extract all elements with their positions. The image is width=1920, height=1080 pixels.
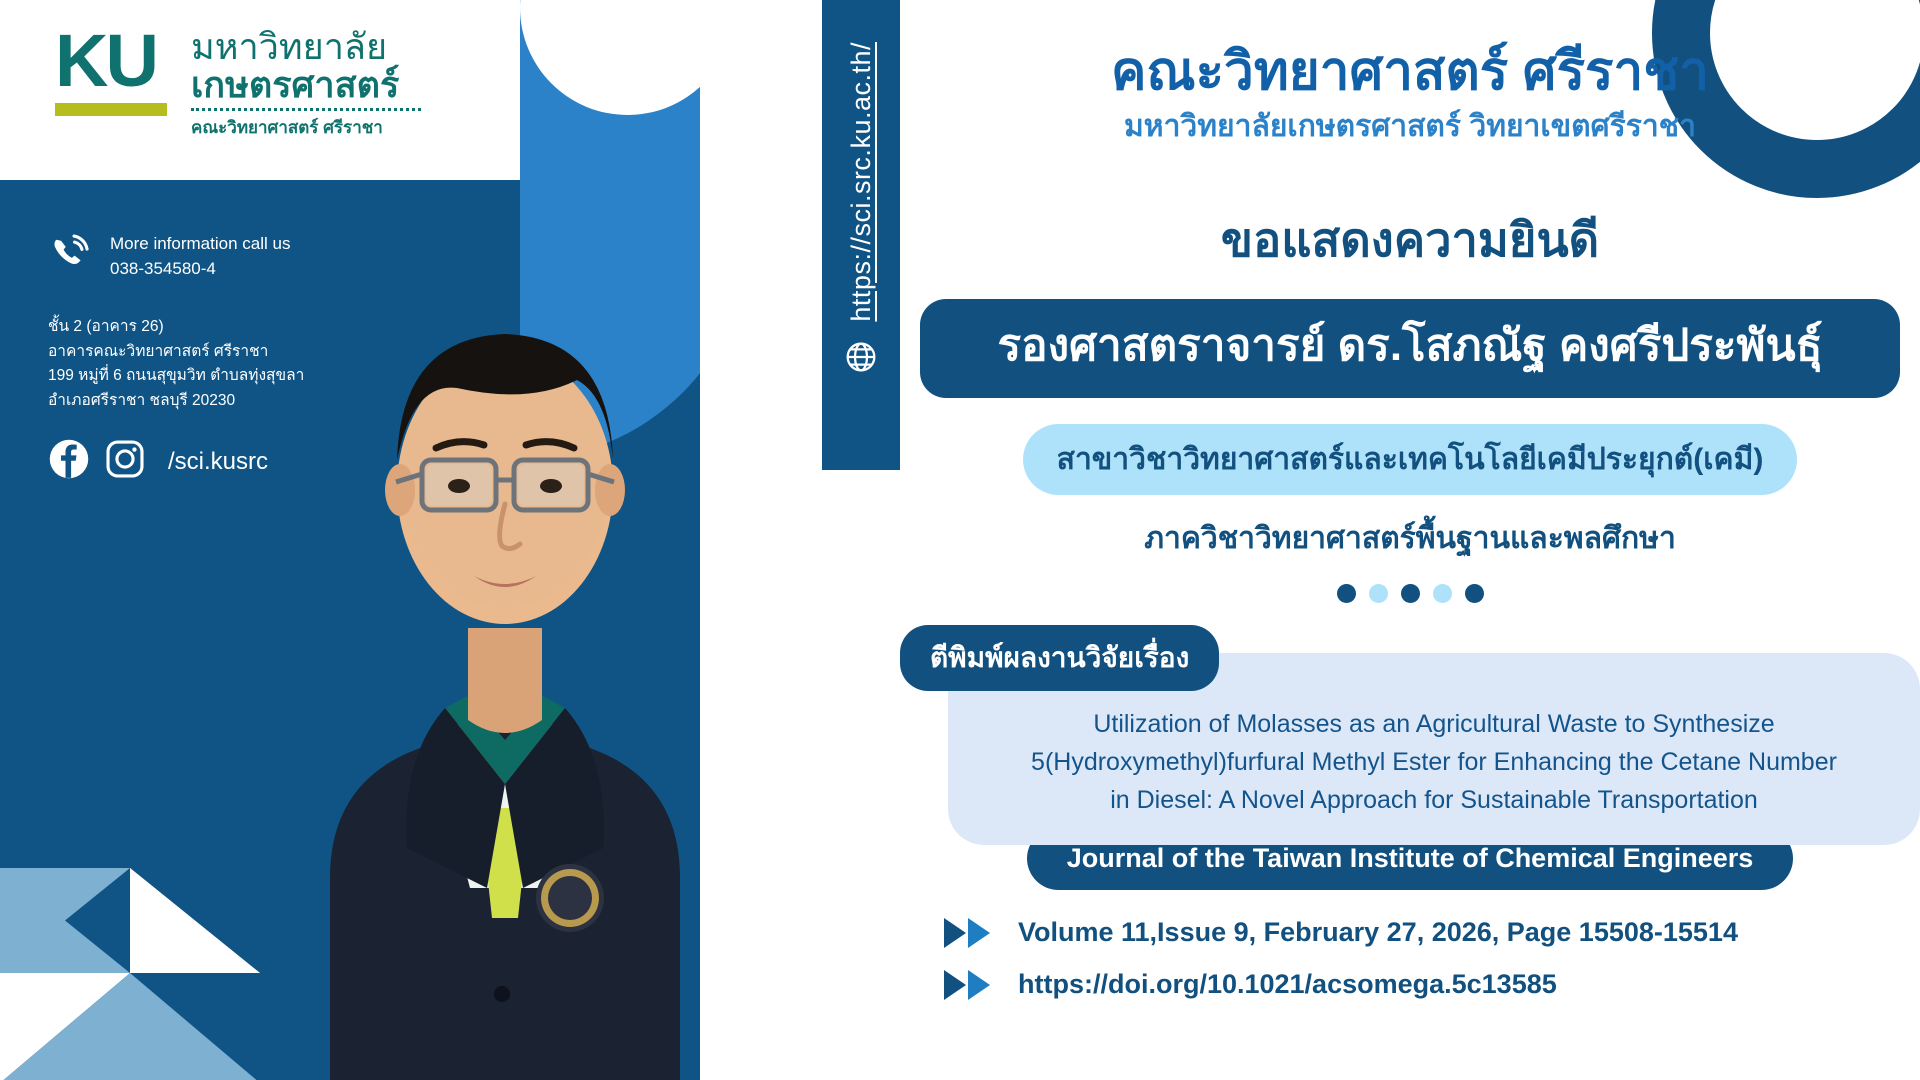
page-header: คณะวิทยาศาสตร์ ศรีราชา มหาวิทยาลัยเกษตรศ…: [900, 0, 1920, 150]
pinwheel-svg: [0, 868, 260, 1080]
globe-icon: [844, 340, 878, 379]
major-badge: สาขาวิชาวิทยาศาสตร์และเทคโนโลยีเคมีประยุ…: [1023, 424, 1798, 495]
research-section: ตีพิมพ์ผลงานวิจัยเรื่อง Utilization of M…: [900, 625, 1920, 811]
paper-title-line: in Diesel: A Novel Approach for Sustaina…: [990, 781, 1878, 819]
volume-row: Volume 11,Issue 9, February 27, 2026, Pa…: [942, 916, 1920, 950]
facebook-icon[interactable]: [48, 438, 90, 485]
ku-logo-bar: [55, 103, 167, 116]
ku-logo-icon: KU: [55, 26, 175, 116]
separator-dot: [1401, 584, 1420, 603]
publication-details: Volume 11,Issue 9, February 27, 2026, Pa…: [900, 916, 1920, 1002]
website-strip: https://sci.src.ku.ac.th/: [822, 0, 900, 470]
separator-dot: [1433, 584, 1452, 603]
social-row: /sci.kusrc: [48, 438, 268, 485]
ku-logo-line2: เกษตรศาสตร์: [191, 66, 421, 104]
double-chevron-right-icon: [942, 916, 996, 950]
portrait-illustration: [240, 108, 770, 1080]
phone-icon: [48, 232, 92, 281]
doi-row: https://doi.org/10.1021/acsomega.5c13585: [942, 968, 1920, 1002]
honoree-name: รองศาสตราจารย์ ดร.โสภณัฐ คงศรีประพันธุ์: [920, 299, 1900, 398]
ku-logo-line1: มหาวิทยาลัย: [191, 28, 421, 66]
page-subtitle: มหาวิทยาลัยเกษตรศาสตร์ วิทยาเขตศรีราชา: [900, 103, 1920, 150]
doi-url[interactable]: https://doi.org/10.1021/acsomega.5c13585: [1018, 969, 1557, 1000]
instagram-icon[interactable]: [104, 438, 146, 485]
main-content: คณะวิทยาศาสตร์ ศรีราชา มหาวิทยาลัยเกษตรศ…: [900, 0, 1920, 1080]
dot-separator: [900, 584, 1920, 603]
pinwheel-decoration: [0, 868, 260, 1080]
publication-label: ตีพิมพ์ผลงานวิจัยเรื่อง: [900, 625, 1219, 691]
congratulations-heading: ขอแสดงความยินดี: [900, 202, 1920, 277]
double-chevron-right-icon: [942, 968, 996, 1002]
separator-dot: [1369, 584, 1388, 603]
ku-logo-letters: KU: [55, 26, 175, 96]
department-label: ภาควิชาวิทยาศาสตร์พื้นฐานและพลศึกษา: [900, 515, 1920, 562]
website-url[interactable]: https://sci.src.ku.ac.th/: [846, 42, 877, 322]
portrait-photo: [240, 108, 770, 1080]
volume-info: Volume 11,Issue 9, February 27, 2026, Pa…: [1018, 917, 1738, 948]
paper-title-line: 5(Hydroxymethyl)furfural Methyl Ester fo…: [990, 743, 1878, 781]
paper-title-line: Utilization of Molasses as an Agricultur…: [990, 705, 1878, 743]
page-title: คณะวิทยาศาสตร์ ศรีราชา: [900, 42, 1920, 101]
separator-dot: [1337, 584, 1356, 603]
separator-dot: [1465, 584, 1484, 603]
